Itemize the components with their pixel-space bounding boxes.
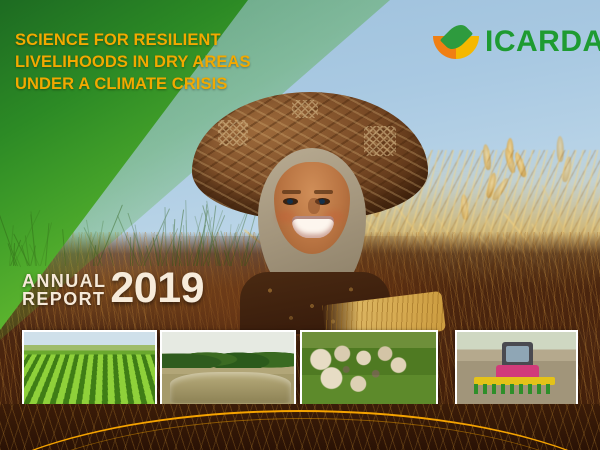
tractor-seeder-image [457,332,576,404]
hat-weave-patch [292,100,318,118]
wheat-ear [486,172,499,199]
thumbnail-tractor-seeder[interactable] [455,330,578,406]
grass-blade [132,233,135,266]
annual-report-cover: SCIENCE FOR RESILIENT LIVELIHOODS IN DRY… [0,0,600,450]
grass-blade [185,220,188,266]
headline-line-3: UNDER A CLIMATE CRISIS [15,74,345,96]
tree-line [162,339,294,368]
report-title-block: ANNUAL REPORT 2019 [22,272,204,309]
report-year: 2019 [110,270,204,307]
report-label-line-1: ANNUAL [22,272,106,290]
thumbnail-crop-rows[interactable] [22,330,157,406]
icarda-logo[interactable]: ICARDA [433,22,600,62]
grass-blade [86,220,95,267]
hat-weave-patch [218,120,248,146]
eyebrow [282,190,301,194]
wheat-ear [506,137,514,163]
grass-blade [183,225,185,266]
pond [170,372,291,402]
eyebrow [314,190,333,194]
thumbnail-grazing-sheep[interactable] [300,330,438,406]
headline-line-1: SCIENCE FOR RESILIENT [15,30,345,52]
headline-line-2: LIVELIHOODS IN DRY AREAS [15,52,345,74]
report-label-line-2: REPORT [22,290,106,308]
grazing-sheep-image [302,332,436,404]
grass-blade [62,229,66,266]
thumbnail-strip [0,330,600,406]
bottom-band [0,404,600,450]
three-leaf-icon [433,23,479,61]
seeder-tines [474,384,555,394]
wheat-ear [460,194,469,220]
nose [308,198,320,214]
wheat-ear [502,147,516,174]
thumbnail-water-reservoir[interactable] [160,330,296,406]
wheat-ear [491,176,511,202]
wheat-ear [513,151,528,178]
eye [283,198,298,205]
page-title: SCIENCE FOR RESILIENT LIVELIHOODS IN DRY… [15,30,345,95]
wheat-ear [561,156,573,183]
grass-blade [77,237,80,266]
water-reservoir-image [162,332,294,404]
crop-rows-image [24,332,155,404]
report-label: ANNUAL REPORT [22,272,106,309]
hat-weave-patch [364,126,396,156]
farmer-portrait [196,86,424,334]
icarda-wordmark: ICARDA [485,27,600,57]
